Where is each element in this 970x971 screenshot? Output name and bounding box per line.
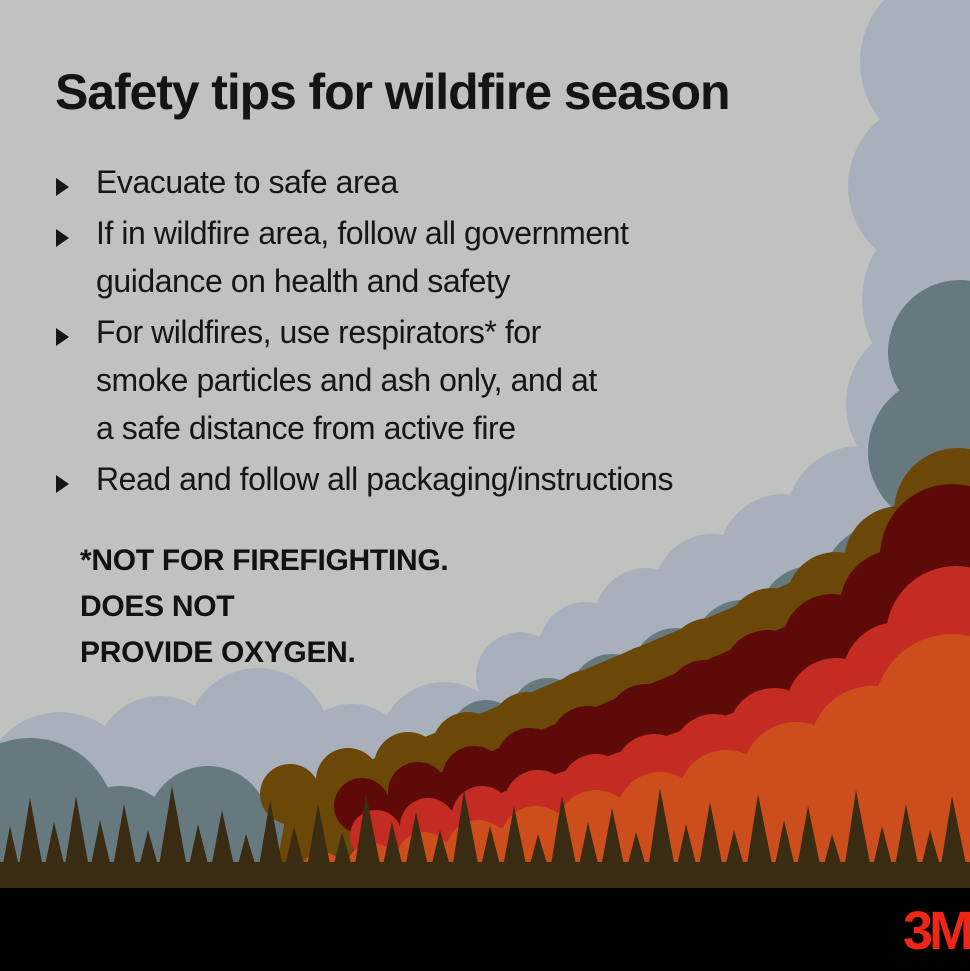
wildfire-safety-poster: Safety tips for wildfire season Evacuate… [0, 0, 970, 971]
tip-text: Evacuate to safe area [96, 158, 892, 206]
list-item: Evacuate to safe area [52, 158, 892, 206]
triangle-right-icon [56, 328, 69, 346]
footer-bar: 3M [0, 888, 970, 971]
list-item: If in wildfire area, follow all governme… [52, 209, 892, 305]
page-title: Safety tips for wildfire season [55, 66, 915, 119]
safety-tips-list: Evacuate to safe area If in wildfire are… [52, 158, 892, 506]
tip-text: If in wildfire area, follow all governme… [96, 209, 892, 305]
triangle-right-icon [56, 229, 69, 247]
triangle-right-icon [56, 178, 69, 196]
3m-logo: 3M [903, 904, 970, 958]
list-item: For wildfires, use respirators* for smok… [52, 308, 892, 452]
disclaimer-text: *NOT FOR FIREFIGHTING. DOES NOT PROVIDE … [80, 538, 448, 677]
triangle-right-icon [56, 475, 69, 493]
list-item: Read and follow all packaging/instructio… [52, 455, 892, 503]
tip-text: For wildfires, use respirators* for smok… [96, 308, 892, 452]
tip-text: Read and follow all packaging/instructio… [96, 455, 892, 503]
